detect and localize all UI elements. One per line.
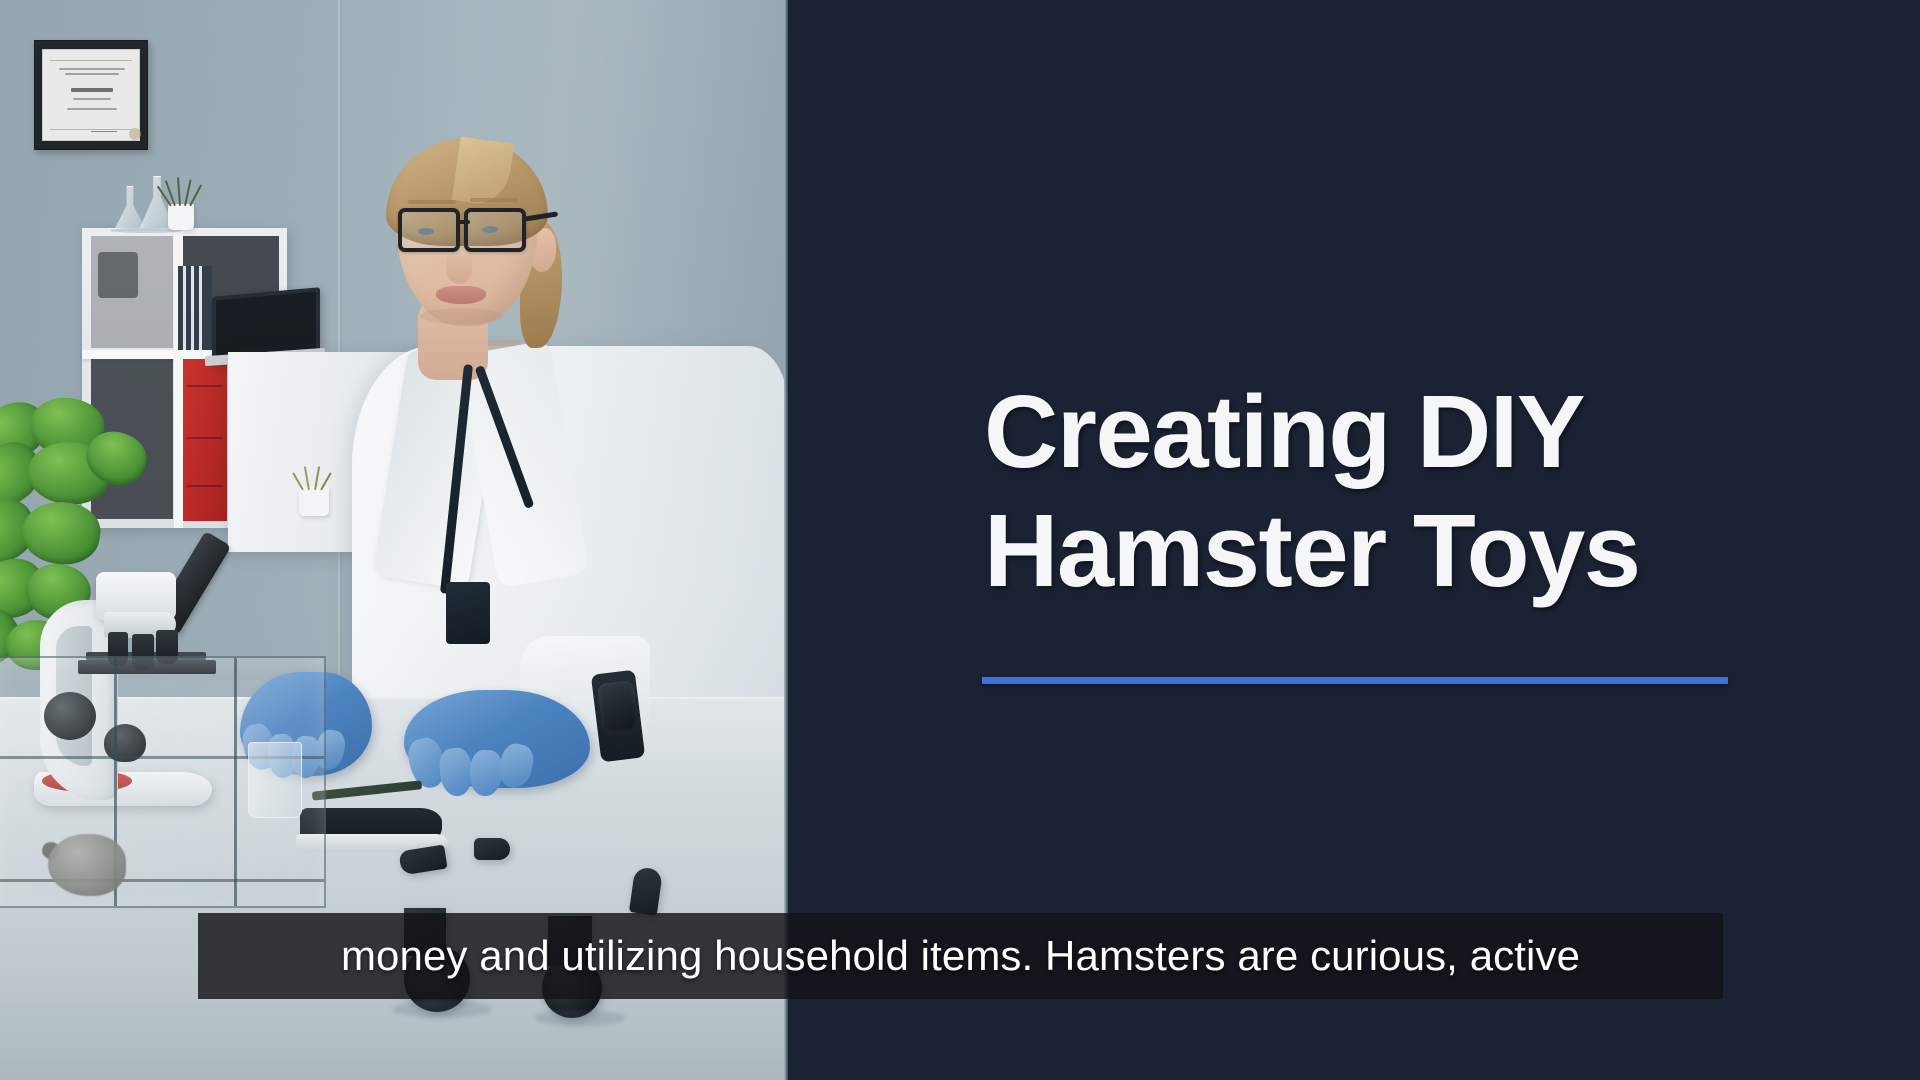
slide-title-line-1: Creating DIY (984, 372, 1744, 491)
succulent-plant-top (168, 178, 194, 206)
eyeglass-lens-right (464, 208, 526, 252)
book-stack (178, 266, 212, 350)
framed-certificate (34, 40, 148, 150)
eyeglass-bridge (458, 220, 470, 224)
scientist-nose (446, 256, 472, 284)
wall-corner (338, 0, 342, 700)
video-slide: Creating DIY Hamster Toys money and util… (0, 0, 1920, 1080)
scientist-lips (436, 286, 486, 304)
eyeglass-lens-left (398, 208, 460, 252)
terrarium-feeder (248, 742, 302, 818)
succulent-pot-top (168, 204, 194, 230)
accent-underline (982, 677, 1728, 684)
id-badge (446, 582, 490, 644)
scientist-chin-shadow (420, 308, 504, 324)
hamster (48, 834, 126, 896)
succulent-plant-right (299, 464, 329, 490)
smartwatch-face (597, 680, 639, 734)
certificate-signature (91, 120, 117, 132)
glove-right (404, 690, 590, 788)
eyeglasses (398, 206, 540, 260)
certificate-mat (42, 49, 140, 141)
succulent-pot-right (299, 486, 329, 516)
caption-text: money and utilizing household items. Ham… (341, 932, 1580, 980)
slide-title: Creating DIY Hamster Toys (984, 372, 1744, 611)
tool-cap (474, 838, 510, 860)
slide-title-line-2: Hamster Toys (984, 491, 1744, 610)
caption-bar: money and utilizing household items. Ham… (198, 913, 1723, 999)
red-binder-a (183, 359, 227, 521)
